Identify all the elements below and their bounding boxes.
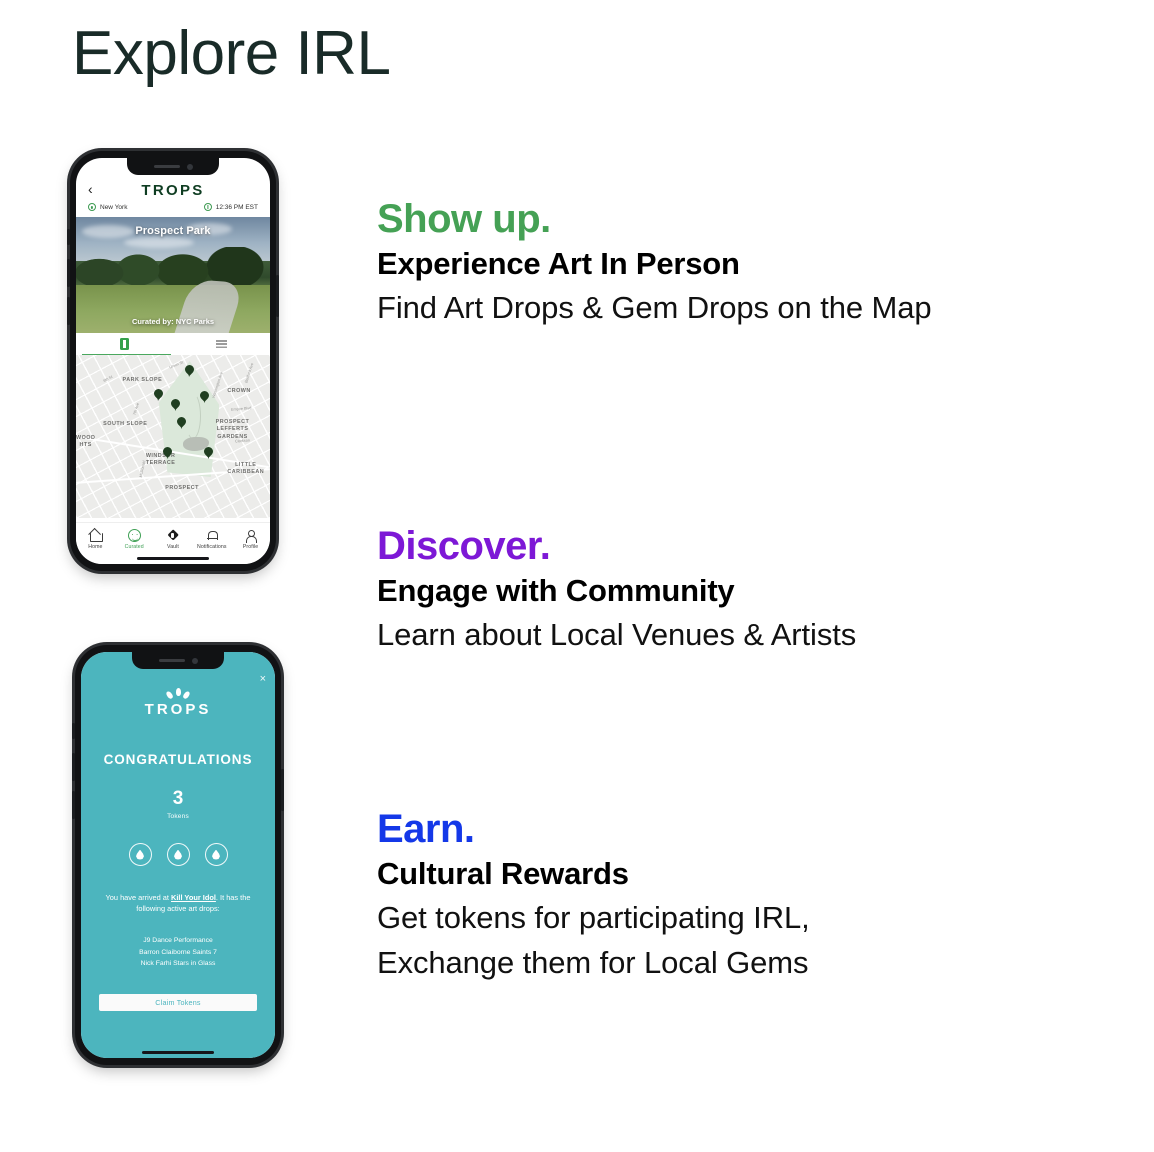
time-label: 12:36 PM EST	[216, 204, 258, 211]
home-indicator	[137, 557, 209, 561]
nav-item-label: Notifications	[197, 544, 227, 550]
token-row	[129, 843, 228, 866]
feature-body-line2: Exchange them for Local Gems	[377, 942, 810, 985]
location-indicator: New York	[88, 203, 127, 211]
view-tabs	[76, 333, 270, 355]
phone-volume-down-button	[67, 297, 70, 325]
location-pin-icon	[88, 203, 96, 211]
map-pin-icon[interactable]	[200, 391, 209, 404]
drop-token-icon	[136, 850, 144, 860]
location-label: New York	[100, 204, 127, 211]
drop-token-icon	[174, 850, 182, 860]
arrival-prefix: You have arrived at	[106, 893, 171, 902]
map-neighborhood-label: CROWN	[227, 388, 250, 395]
feature-block-earn: Earn. Cultural Rewards Get tokens for pa…	[377, 808, 810, 984]
phone-mockup-map: ‹ TROPS New York 12:36 PM EST	[70, 151, 276, 571]
profile-icon	[244, 529, 257, 542]
nav-item-label: Profile	[243, 544, 258, 550]
reward-screen: × TROPS CONGRATULATIONS 3 Tokens You hav…	[81, 652, 275, 1058]
claim-tokens-button[interactable]: Claim Tokens	[99, 994, 257, 1011]
map-canvas[interactable]: PARK SLOPESOUTH SLOPEWOOD HTSWINDSOR TER…	[76, 355, 270, 518]
explore-irl-page: Explore IRL Show up. Experience Art In P…	[0, 0, 1154, 1152]
nav-item-label: Home	[88, 544, 102, 550]
art-drops-list: J9 Dance PerformanceBarron Claiborne Sai…	[139, 935, 217, 970]
back-chevron-icon[interactable]: ‹	[88, 182, 93, 196]
phone-mute-switch	[72, 723, 75, 739]
feature-body-line1: Get tokens for participating IRL,	[377, 897, 810, 940]
home-icon	[89, 529, 102, 542]
feature-subtitle: Cultural Rewards	[377, 854, 810, 895]
token-badge	[205, 843, 228, 866]
front-camera	[187, 164, 193, 170]
phone-volume-down-button	[72, 791, 75, 819]
front-camera	[192, 658, 198, 664]
earpiece-speaker	[159, 659, 185, 662]
hero-photo: Prospect Park Curated by: NYC Parks	[76, 217, 270, 333]
map-pin-icon[interactable]	[154, 389, 163, 402]
phone-power-button	[276, 275, 279, 317]
nav-item-profile[interactable]: Profile	[231, 529, 270, 550]
phone-mute-switch	[67, 229, 70, 245]
art-drop-item: J9 Dance Performance	[139, 935, 217, 947]
phone-power-button	[281, 769, 284, 811]
earpiece-speaker	[154, 165, 180, 168]
page-title: Explore IRL	[72, 18, 390, 89]
home-indicator	[142, 1051, 214, 1055]
token-badge	[129, 843, 152, 866]
nav-item-curated[interactable]: Curated	[115, 529, 154, 550]
map-pin-icon[interactable]	[177, 417, 186, 430]
token-badge	[167, 843, 190, 866]
list-view-icon	[216, 340, 227, 348]
phone-volume-up-button	[72, 753, 75, 781]
tab-map-view[interactable]	[76, 333, 173, 355]
nav-item-label: Vault	[167, 544, 179, 550]
map-neighborhood-label: SOUTH SLOPE	[103, 421, 147, 428]
map-neighborhood-label: PROSPECT	[165, 485, 199, 492]
brand-wordmark: TROPS	[145, 701, 212, 718]
close-icon[interactable]: ×	[260, 674, 266, 685]
hero-treeline	[76, 247, 270, 289]
time-indicator: 12:36 PM EST	[204, 203, 258, 211]
feature-body: Learn about Local Venues & Artists	[377, 614, 856, 657]
map-neighborhood-label: PARK SLOPE	[123, 377, 163, 384]
feature-block-discover: Discover. Engage with Community Learn ab…	[377, 525, 856, 657]
nav-item-home[interactable]: Home	[76, 529, 115, 550]
phone-mockup-reward: × TROPS CONGRATULATIONS 3 Tokens You hav…	[75, 645, 281, 1065]
drop-token-icon	[212, 850, 220, 860]
venue-name: Kill Your Idol	[171, 893, 216, 902]
logo-petal	[176, 688, 181, 696]
feature-subtitle: Experience Art In Person	[377, 244, 932, 285]
phone-notch	[132, 652, 224, 669]
map-neighborhood-label: LITTLE CARIBBEAN	[227, 462, 264, 477]
trops-logo-icon	[167, 688, 189, 699]
feature-kicker: Discover.	[377, 525, 856, 567]
map-pin-icon[interactable]	[204, 447, 213, 460]
art-drop-item: Barron Claiborne Saints 7	[139, 947, 217, 959]
meta-row: New York 12:36 PM EST	[76, 200, 270, 217]
curated-icon	[128, 529, 141, 542]
phone-screen-reward: × TROPS CONGRATULATIONS 3 Tokens You hav…	[81, 652, 275, 1058]
feature-subtitle: Engage with Community	[377, 571, 856, 612]
nav-item-label: Curated	[125, 544, 144, 550]
map-pin-icon[interactable]	[163, 447, 172, 460]
logo-petal	[182, 690, 191, 699]
hero-title: Prospect Park	[76, 225, 270, 237]
brand-wordmark: TROPS	[141, 182, 204, 199]
map-neighborhood-label: PROSPECT LEFFERTS GARDENS	[216, 419, 250, 441]
logo-petal	[165, 690, 174, 699]
phone-notch	[127, 158, 219, 175]
tab-list-view[interactable]	[173, 333, 270, 355]
phone-volume-up-button	[67, 259, 70, 287]
phone-screen-map: ‹ TROPS New York 12:36 PM EST	[76, 158, 270, 564]
nav-item-notifications[interactable]: Notifications	[192, 529, 231, 550]
nav-item-vault[interactable]: Vault	[154, 529, 193, 550]
feature-kicker: Show up.	[377, 198, 932, 240]
clock-icon	[204, 203, 212, 211]
token-count: 3	[173, 789, 184, 808]
map-pin-icon[interactable]	[171, 399, 180, 412]
congratulations-headline: CONGRATULATIONS	[104, 752, 253, 767]
notifications-icon	[205, 529, 218, 542]
vault-icon	[166, 529, 179, 542]
feature-kicker: Earn.	[377, 808, 810, 850]
art-drop-item: Nick Farhi Stars in Glass	[139, 958, 217, 970]
map-view-icon	[120, 338, 129, 350]
map-trail	[185, 393, 201, 439]
token-label: Tokens	[167, 813, 189, 820]
feature-body: Find Art Drops & Gem Drops on the Map	[377, 287, 932, 330]
feature-block-show-up: Show up. Experience Art In Person Find A…	[377, 198, 932, 330]
map-pin-icon[interactable]	[185, 365, 194, 378]
arrival-message: You have arrived at Kill Your Idol. It h…	[99, 892, 257, 915]
hero-credit: Curated by: NYC Parks	[76, 317, 270, 326]
map-neighborhood-label: WOOD HTS	[76, 435, 95, 450]
